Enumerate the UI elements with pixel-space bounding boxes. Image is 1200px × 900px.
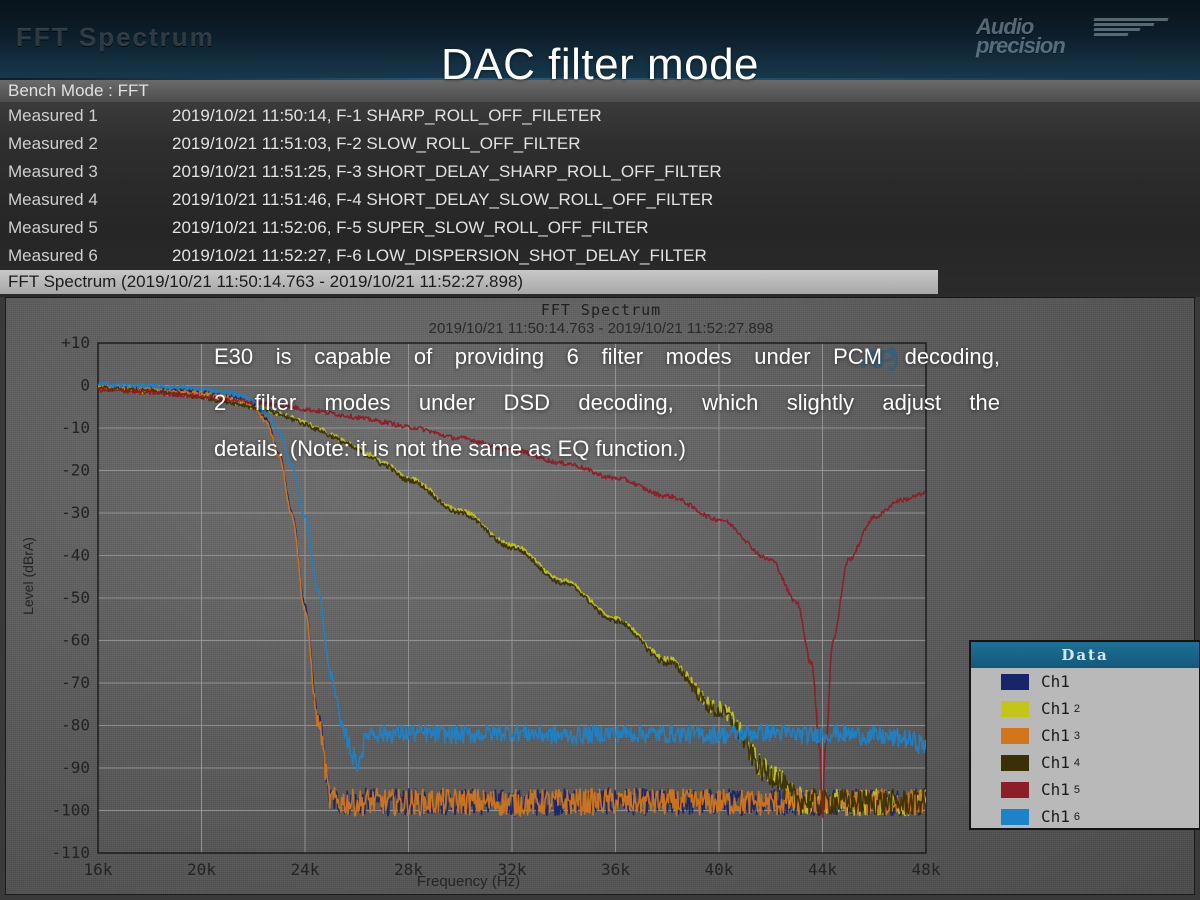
measured-value: 2019/10/21 11:51:03, F-2 SLOW_ROLL_OFF_F… <box>172 134 581 153</box>
measured-row: Measured 42019/10/21 11:51:46, F-4 SHORT… <box>0 186 1200 214</box>
legend-color-swatch <box>1001 809 1029 825</box>
measured-row: Measured 32019/10/21 11:51:25, F-3 SHORT… <box>0 158 1200 186</box>
measured-row: Measured 52019/10/21 11:52:06, F-5 SUPER… <box>0 214 1200 242</box>
measured-label: Measured 6 <box>0 242 172 270</box>
svg-text:-60: -60 <box>61 631 90 650</box>
measurement-meta-block: Bench Mode : FFT Measured 12019/10/21 11… <box>0 80 1200 297</box>
legend-color-swatch <box>1001 701 1029 717</box>
svg-text:-90: -90 <box>61 758 90 777</box>
legend-color-swatch <box>1001 674 1029 690</box>
legend-item-label: Ch1 <box>1041 699 1070 718</box>
measured-label: Measured 5 <box>0 214 172 242</box>
svg-text:-80: -80 <box>61 716 90 735</box>
svg-text:-20: -20 <box>61 461 90 480</box>
legend-item[interactable]: Ch1 2 <box>971 695 1199 722</box>
legend-item-index: 6 <box>1074 811 1080 823</box>
legend-item-label: Ch1 <box>1041 780 1070 799</box>
legend-item[interactable]: Ch1 <box>971 668 1199 695</box>
y-axis-title: Level (dBrA) <box>20 511 36 641</box>
overlay-line-3: details. (Note: it is not the same as EQ… <box>214 426 1000 472</box>
legend-header: Data <box>971 642 1199 668</box>
slide-root: FFT Spectrum Audio precision DAC filter … <box>0 0 1200 900</box>
legend-color-swatch <box>1001 782 1029 798</box>
legend-color-swatch <box>1001 728 1029 744</box>
measured-value: 2019/10/21 11:52:27, F-6 LOW_DISPERSION_… <box>172 246 707 265</box>
measured-value: 2019/10/21 11:52:06, F-5 SUPER_SLOW_ROLL… <box>172 218 649 237</box>
svg-text:0: 0 <box>80 376 90 395</box>
legend-item-label: Ch1 <box>1041 807 1070 826</box>
overlay-line-2: 2 filter modes under DSD decoding, which… <box>214 380 1000 426</box>
overlay-description: E30 is capable of providing 6 filter mod… <box>214 334 1000 472</box>
legend-item-label: Ch1 <box>1041 672 1070 691</box>
svg-text:-100: -100 <box>51 801 90 820</box>
svg-text:-30: -30 <box>61 503 90 522</box>
measured-row: Measured 12019/10/21 11:50:14, F-1 SHARP… <box>0 102 1200 130</box>
svg-text:-40: -40 <box>61 546 90 565</box>
legend-item-index: 3 <box>1074 730 1080 742</box>
legend-item[interactable]: Ch1 5 <box>971 776 1199 803</box>
legend-color-swatch <box>1001 755 1029 771</box>
measured-label: Measured 2 <box>0 130 172 158</box>
legend-item-label: Ch1 <box>1041 753 1070 772</box>
x-axis-title: Frequency (Hz) <box>6 873 931 890</box>
measured-row: Measured 62019/10/21 11:52:27, F-6 LOW_D… <box>0 242 1200 270</box>
measured-label: Measured 3 <box>0 158 172 186</box>
svg-text:-10: -10 <box>61 418 90 437</box>
measured-label: Measured 4 <box>0 186 172 214</box>
legend-item-index: 4 <box>1074 757 1080 769</box>
measured-label: Measured 1 <box>0 102 172 130</box>
logo-bars-icon <box>1094 18 1168 36</box>
measured-value: 2019/10/21 11:50:14, F-1 SHARP_ROLL_OFF_… <box>172 106 602 125</box>
legend-item-index: 2 <box>1074 703 1080 715</box>
chart-legend: Data Ch1 Ch1 2 Ch1 3 Ch1 4 <box>969 640 1200 830</box>
legend-item[interactable]: Ch1 3 <box>971 722 1199 749</box>
page-title: DAC filter mode <box>0 40 1200 90</box>
svg-text:+10: +10 <box>61 333 90 352</box>
legend-item[interactable]: Ch1 6 <box>971 803 1199 830</box>
measured-row: Measured 22019/10/21 11:51:03, F-2 SLOW_… <box>0 130 1200 158</box>
overlay-line-1: E30 is capable of providing 6 filter mod… <box>214 334 1000 380</box>
y-axis-tick-labels: +100-10-20-30-40-50-60-70-80-90-100-110 <box>51 333 90 862</box>
measured-value: 2019/10/21 11:51:25, F-3 SHORT_DELAY_SHA… <box>172 162 722 181</box>
legend-item[interactable]: Ch1 4 <box>971 749 1199 776</box>
legend-item-label: Ch1 <box>1041 726 1070 745</box>
svg-text:-50: -50 <box>61 588 90 607</box>
svg-text:-70: -70 <box>61 673 90 692</box>
legend-item-index: 5 <box>1074 784 1080 796</box>
fft-chart-panel: FFT Spectrum 2019/10/21 11:50:14.763 - 2… <box>5 297 1195 895</box>
fft-spectrum-range-row: FFT Spectrum (2019/10/21 11:50:14.763 - … <box>0 270 938 294</box>
measured-value: 2019/10/21 11:51:46, F-4 SHORT_DELAY_SLO… <box>172 190 713 209</box>
